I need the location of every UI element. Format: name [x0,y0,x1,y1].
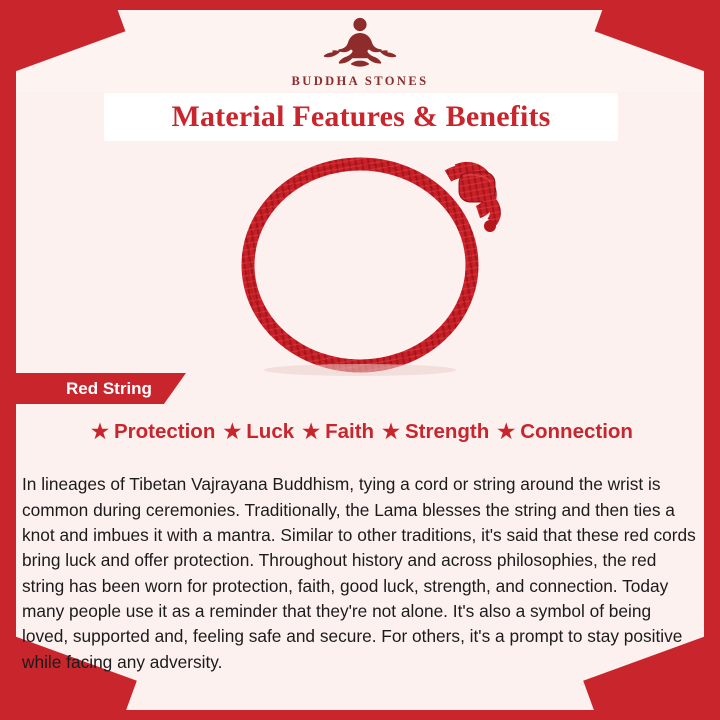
description-block: In lineages of Tibetan Vajrayana Buddhis… [22,455,698,692]
star-icon: ★ [497,422,515,442]
keyword-item-connection: ★ Connection [493,420,633,444]
keyword-item-luck: ★ Luck [219,420,294,444]
brand-name: BUDDHA STONES [255,74,465,89]
star-icon: ★ [382,422,400,442]
product-image [16,142,704,384]
frame-edge-right [704,0,720,720]
keyword-item-strength: ★ Strength [378,420,489,444]
star-icon: ★ [302,422,320,442]
star-icon: ★ [223,422,241,442]
keyword-label: Luck [246,420,294,444]
frame-edge-left [0,0,16,720]
product-label-text: Red String [66,379,152,399]
lotus-meditation-icon [255,14,465,72]
keyword-item-protection: ★ Protection [87,420,215,444]
poster-root: BUDDHA STONES Material Features & Benefi… [0,0,720,720]
description-text: In lineages of Tibetan Vajrayana Buddhis… [22,472,698,675]
keyword-item-faith: ★ Faith [298,420,374,444]
keyword-label: Faith [325,420,374,444]
keyword-label: Strength [405,420,489,444]
brand-logo: BUDDHA STONES [255,14,465,89]
page-title: Material Features & Benefits [171,100,550,134]
keyword-row: ★ Protection ★ Luck ★ Faith ★ Strength ★… [16,420,704,444]
red-braided-string-bracelet-illustration [16,142,704,384]
product-label-ribbon: Red String [16,373,186,404]
keyword-label: Connection [520,420,633,444]
keyword-label: Protection [114,420,215,444]
title-band: Material Features & Benefits [104,93,618,141]
star-icon: ★ [91,422,109,442]
